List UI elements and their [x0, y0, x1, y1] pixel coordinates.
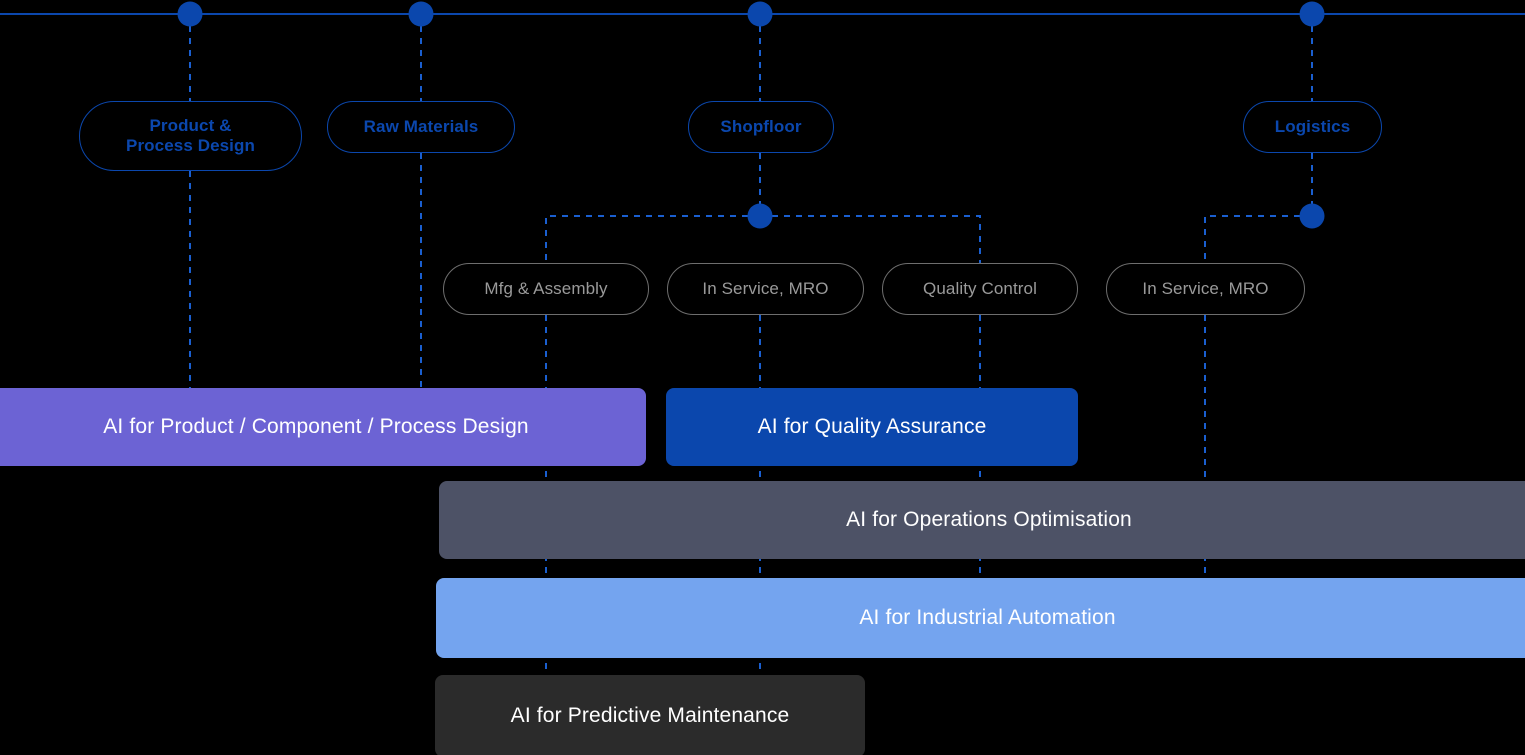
stage-pill-mfg-assembly[interactable]: Mfg & Assembly: [443, 263, 649, 315]
stage-pill-product-process-design-label: Product & Process Design: [126, 116, 255, 155]
capability-bar-ai-predictive-maintenance[interactable]: AI for Predictive Maintenance: [435, 675, 865, 755]
capability-bar-ai-product-process-design-label: AI for Product / Component / Process Des…: [0, 415, 646, 439]
capability-bar-ai-predictive-maintenance-label: AI for Predictive Maintenance: [435, 704, 865, 728]
stage-pill-raw-materials[interactable]: Raw Materials: [327, 101, 515, 153]
stage-pill-quality-control-label: Quality Control: [923, 279, 1037, 299]
stage-pill-logistics[interactable]: Logistics: [1243, 101, 1382, 153]
stage-pill-shopfloor[interactable]: Shopfloor: [688, 101, 834, 153]
stage-pill-quality-control[interactable]: Quality Control: [882, 263, 1078, 315]
capability-bar-ai-quality-assurance[interactable]: AI for Quality Assurance: [666, 388, 1078, 466]
stage-pill-logistics-label: Logistics: [1275, 117, 1351, 137]
connector-branch-to-quality-control: [760, 216, 980, 263]
stage-pill-shopfloor-label: Shopfloor: [720, 117, 801, 137]
timeline-dot-product-process-design[interactable]: [178, 2, 203, 27]
timeline-dot-raw-materials[interactable]: [409, 2, 434, 27]
stage-pill-in-service-mro-1[interactable]: In Service, MRO: [667, 263, 864, 315]
branch-dot-shopfloor-branch[interactable]: [748, 204, 773, 229]
timeline-dot-logistics[interactable]: [1300, 2, 1325, 27]
capability-bar-ai-quality-assurance-label: AI for Quality Assurance: [666, 415, 1078, 439]
stage-pill-mfg-assembly-label: Mfg & Assembly: [484, 279, 607, 299]
stage-pill-in-service-mro-1-label: In Service, MRO: [702, 279, 828, 299]
branch-dot-logistics-branch[interactable]: [1300, 204, 1325, 229]
capability-bar-ai-operations-optimisation-label: AI for Operations Optimisation: [439, 508, 1525, 532]
stage-pill-in-service-mro-2[interactable]: In Service, MRO: [1106, 263, 1305, 315]
stage-pill-product-process-design[interactable]: Product & Process Design: [79, 101, 302, 171]
capability-bar-ai-product-process-design[interactable]: AI for Product / Component / Process Des…: [0, 388, 646, 466]
stage-pill-raw-materials-label: Raw Materials: [364, 117, 479, 137]
connector-branch-to-in-service-mro-2: [1205, 216, 1312, 263]
timeline-dot-shopfloor[interactable]: [748, 2, 773, 27]
connector-branch-to-mfg-assembly: [546, 216, 760, 263]
stage-pill-in-service-mro-2-label: In Service, MRO: [1142, 279, 1268, 299]
capability-bar-ai-operations-optimisation[interactable]: AI for Operations Optimisation: [439, 481, 1525, 559]
capability-bar-ai-industrial-automation[interactable]: AI for Industrial Automation: [436, 578, 1525, 658]
diagram-canvas: Product & Process DesignRaw MaterialsSho…: [0, 0, 1525, 755]
capability-bar-ai-industrial-automation-label: AI for Industrial Automation: [436, 606, 1525, 630]
